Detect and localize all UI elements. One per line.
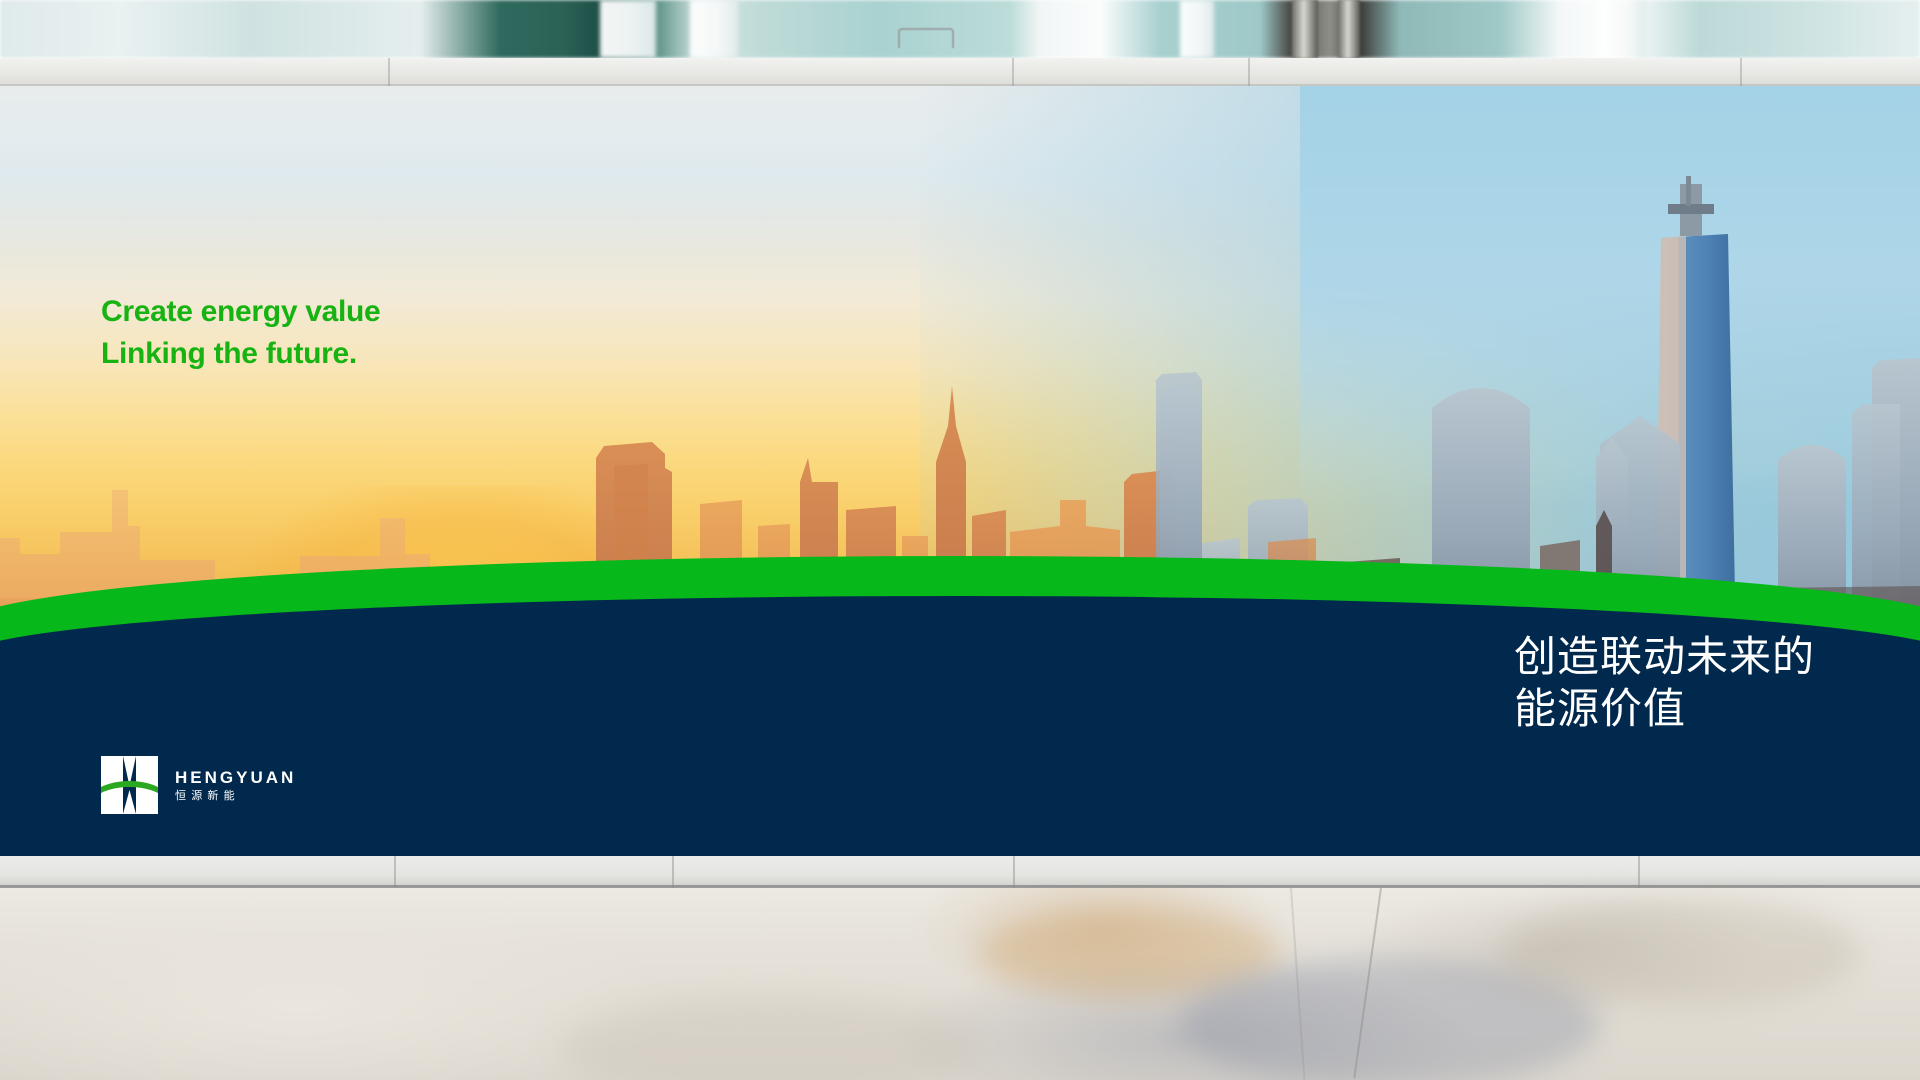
headline-line-2: Linking the future. bbox=[101, 333, 380, 375]
billboard-mockup-scene: Create energy value Linking the future. … bbox=[0, 0, 1920, 1080]
brand-logo-lockup[interactable]: HENGYUAN 恒源新能 bbox=[101, 756, 296, 814]
ledge-seam-bottom bbox=[394, 856, 396, 888]
ledge-seam bbox=[1012, 58, 1014, 86]
headline-block: Create energy value Linking the future. bbox=[101, 291, 380, 375]
facade-column-far-right bbox=[1600, 0, 1646, 58]
ledge-seam-bottom bbox=[1638, 856, 1640, 888]
facade-pipe bbox=[1292, 0, 1318, 58]
facade-column-mid bbox=[690, 0, 738, 58]
ground-stain bbox=[560, 998, 980, 1080]
billboard-panel[interactable]: Create energy value Linking the future. … bbox=[0, 86, 1920, 856]
headline-line-1: Create energy value bbox=[101, 291, 380, 333]
ledge-seam bbox=[1740, 58, 1742, 86]
ledge-seam-bottom bbox=[1013, 856, 1015, 888]
ledge-seam bbox=[1248, 58, 1250, 86]
tagline-cn-line-2: 能源价值 bbox=[1514, 683, 1815, 735]
ledge-seam bbox=[388, 58, 390, 86]
facade-bracket-icon bbox=[898, 28, 954, 48]
facade-column-right bbox=[1180, 0, 1214, 58]
hengyuan-m-mark-icon bbox=[101, 756, 158, 814]
tagline-chinese: 创造联动未来的 能源价值 bbox=[1514, 631, 1815, 735]
ground-stain bbox=[1500, 898, 1860, 1008]
concrete-ledge-top bbox=[0, 58, 1920, 86]
wordmark-en: HENGYUAN bbox=[175, 769, 296, 787]
tagline-cn-line-1: 创造联动未来的 bbox=[1514, 631, 1815, 683]
ledge-seam-bottom bbox=[672, 856, 674, 888]
brand-wordmark: HENGYUAN 恒源新能 bbox=[175, 769, 296, 802]
facade-pipe-2 bbox=[1338, 0, 1360, 58]
wordmark-cn: 恒源新能 bbox=[175, 790, 296, 802]
concrete-ledge-bottom bbox=[0, 856, 1920, 888]
facade-column-left bbox=[600, 0, 656, 58]
concrete-ground bbox=[0, 888, 1920, 1080]
